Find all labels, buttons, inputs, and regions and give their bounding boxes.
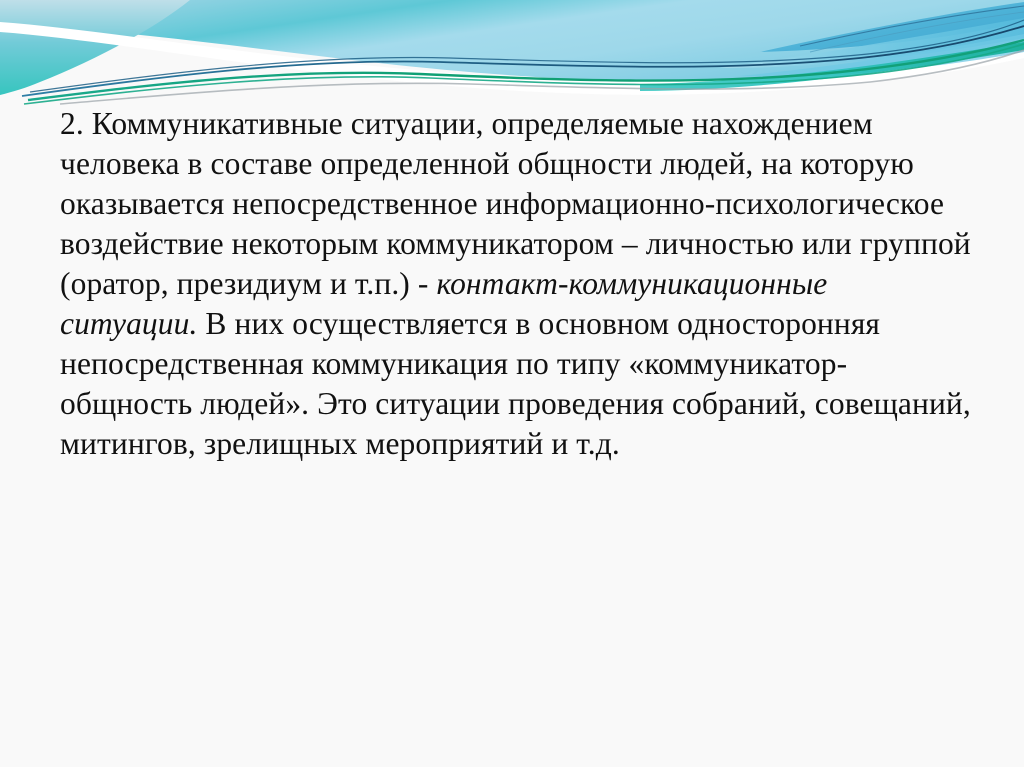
slide-canvas: 2. Коммуникативные ситуации, определяемы… — [0, 0, 1024, 767]
decorative-wave-banner — [0, 0, 1024, 112]
paragraph-segment-normal-2: В них осуществляется в основном одностор… — [60, 306, 971, 461]
content-text-block: 2. Коммуникативные ситуации, определяемы… — [60, 104, 972, 464]
wave-graphic-svg — [0, 0, 1024, 112]
body-paragraph: 2. Коммуникативные ситуации, определяемы… — [60, 104, 972, 464]
